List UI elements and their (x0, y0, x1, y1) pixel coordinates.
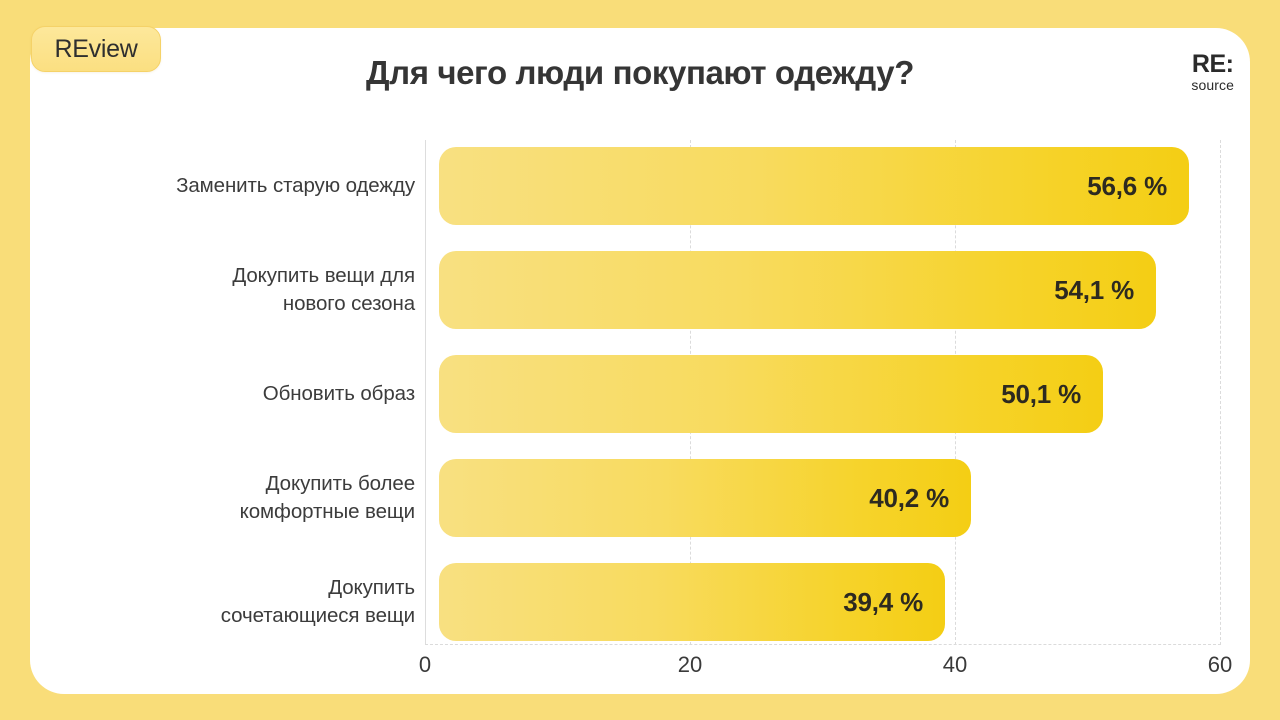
chart-row: Докупить вещи для нового сезона 54,1 % (0, 251, 1280, 329)
category-label: Заменить старую одежду (40, 172, 415, 200)
logo-sub-text: source (1191, 78, 1234, 92)
category-label-line2: комфортные вещи (240, 500, 415, 523)
chart-row: Обновить образ 50,1 % (0, 355, 1280, 433)
category-label-line1: Заменить старую одежду (176, 174, 415, 197)
category-label: Докупить более комфортные вещи (40, 470, 415, 526)
bar-value-label: 39,4 % (843, 587, 945, 618)
bar-value-label: 50,1 % (1001, 379, 1103, 410)
category-label: Докупить вещи для нового сезона (40, 262, 415, 318)
chart-row: Докупить более комфортные вещи 40,2 % (0, 459, 1280, 537)
bar-series-item[interactable]: 39,4 % (439, 563, 945, 641)
category-label-line1: Докупить (328, 576, 415, 599)
category-label-line1: Докупить более (266, 472, 415, 495)
resource-logo: RE: source (1191, 52, 1234, 92)
chart-row: Заменить старую одежду 56,6 % (0, 147, 1280, 225)
bar-series-item[interactable]: 54,1 % (439, 251, 1156, 329)
category-label-line1: Докупить вещи для (232, 264, 415, 287)
chart-row: Докупить сочетающиеся вещи 39,4 % (0, 563, 1280, 641)
x-tick-0: 0 (419, 652, 431, 678)
category-label-line2: нового сезона (283, 292, 415, 315)
bar-chart-plot: 0 20 40 60 Заменить старую одежду 56,6 %… (0, 0, 1280, 720)
page-title: Для чего люди покупают одежду? (0, 54, 1280, 92)
bar-series-item[interactable]: 40,2 % (439, 459, 971, 537)
logo-main-text: RE: (1191, 52, 1234, 77)
bar-value-label: 54,1 % (1054, 275, 1156, 306)
review-badge-label: REview (55, 37, 138, 62)
bar-series-item[interactable]: 50,1 % (439, 355, 1103, 433)
bar-series-item[interactable]: 56,6 % (439, 147, 1189, 225)
bar-value-label: 40,2 % (869, 483, 971, 514)
x-tick-60: 60 (1208, 652, 1232, 678)
category-label: Обновить образ (40, 380, 415, 408)
category-label: Докупить сочетающиеся вещи (40, 574, 415, 630)
x-tick-20: 20 (678, 652, 702, 678)
category-label-line1: Обновить образ (263, 382, 415, 405)
x-tick-40: 40 (943, 652, 967, 678)
bar-value-label: 56,6 % (1087, 171, 1189, 202)
x-axis-baseline (425, 644, 1221, 645)
category-label-line2: сочетающиеся вещи (221, 604, 415, 627)
review-badge[interactable]: REview (31, 26, 161, 72)
